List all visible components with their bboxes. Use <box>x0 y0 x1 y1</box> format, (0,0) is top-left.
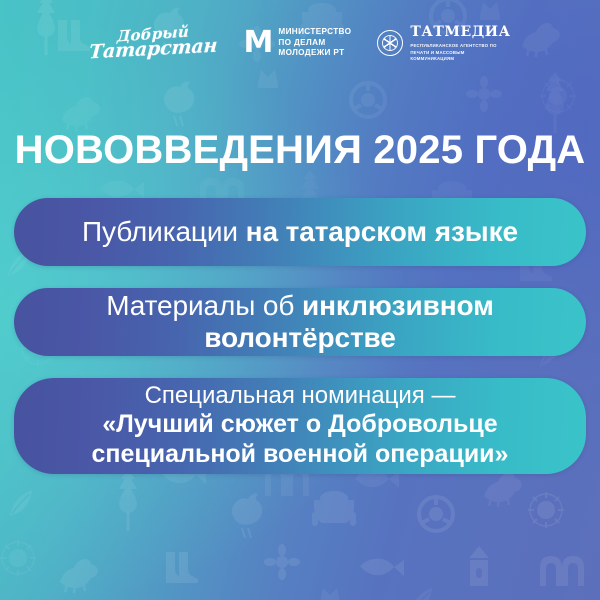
pill-1-bold: на татарском языке <box>246 216 518 247</box>
poster-canvas: Добрый Татарстан М МИНИСТЕРСТВО ПО ДЕЛАМ… <box>0 0 600 600</box>
ministry-line3: МОЛОДЕЖИ РТ <box>278 48 344 57</box>
page-title: НОВОВВЕДЕНИЯ 2025 ГОДА <box>0 128 600 173</box>
ministry-m-mark-icon: М <box>244 30 272 56</box>
pill-1-regular: Публикации <box>82 216 246 247</box>
pill-3-line2: «Лучший сюжет о Добровольце <box>102 410 497 439</box>
pill-special-nomination: Специальная номинация — «Лучший сюжет о … <box>14 378 586 474</box>
ministry-line1: МИНИСТЕРСТВО <box>278 27 351 36</box>
ministry-line2: ПО ДЕЛАМ <box>278 38 325 47</box>
logo-dobry-tatarstan: Добрый Татарстан <box>89 27 217 59</box>
logo-dobry-tatarstan-line2: Татарстан <box>89 37 218 63</box>
pill-2-text: Материалы об инклюзивном волонтёрстве <box>30 290 570 354</box>
tatmedia-text-block: ТАТМЕДИА РЕСПУБЛИКАНСКОЕ АГЕНТСТВО ПО ПЕ… <box>410 23 510 63</box>
logo-tatmedia: ТАТМЕДИА РЕСПУБЛИКАНСКОЕ АГЕНТСТВО ПО ПЕ… <box>377 23 510 63</box>
pill-2-regular: Материалы об <box>106 290 302 321</box>
pill-1-text: Публикации на татарском языке <box>82 216 518 248</box>
logo-ministry-of-youth: М МИНИСТЕРСТВО ПО ДЕЛАМ МОЛОДЕЖИ РТ <box>244 27 352 60</box>
sponsor-logo-row: Добрый Татарстан М МИНИСТЕРСТВО ПО ДЕЛАМ… <box>0 14 600 72</box>
pill-inclusive-volunteering: Материалы об инклюзивном волонтёрстве <box>14 288 586 356</box>
tatmedia-seal-icon <box>377 30 403 56</box>
pill-3-line3: специальной военной операции» <box>92 440 509 469</box>
tatmedia-subtitle: РЕСПУБЛИКАНСКОЕ АГЕНТСТВО ПО ПЕЧАТИ И МА… <box>410 43 502 63</box>
ministry-wordmark: МИНИСТЕРСТВО ПО ДЕЛАМ МОЛОДЕЖИ РТ <box>278 27 351 60</box>
tatmedia-wordmark: ТАТМЕДИА <box>410 24 510 40</box>
pill-3-line1: Специальная номинация — <box>145 383 456 409</box>
nomination-list: Публикации на татарском языке Материалы … <box>14 198 586 474</box>
pill-publications-tatar-language: Публикации на татарском языке <box>14 198 586 266</box>
